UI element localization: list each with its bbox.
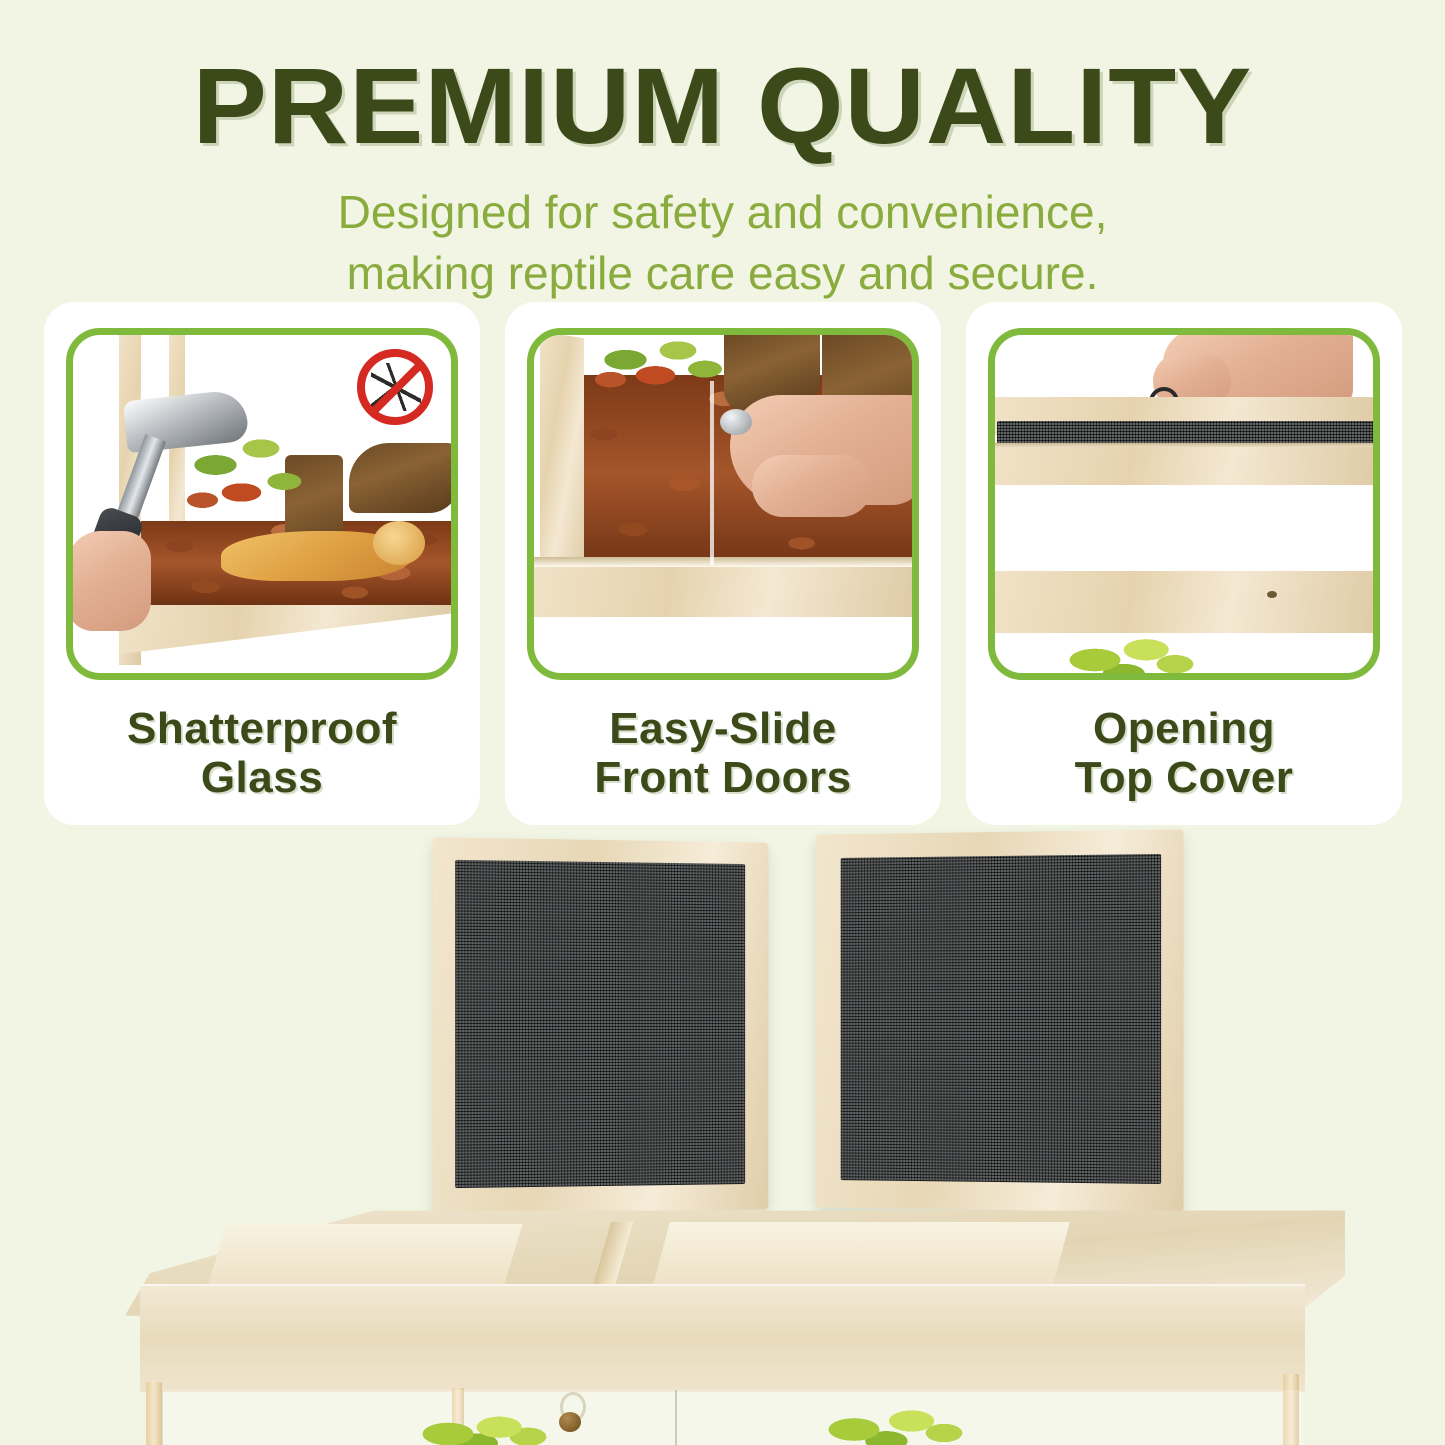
no-crack-icon bbox=[357, 349, 433, 425]
subtitle-line-2: making reptile care easy and secure. bbox=[0, 243, 1445, 304]
feature-card-easy-slide-front-doors[interactable]: Easy-Slide Front Doors bbox=[505, 302, 941, 825]
feature-card-row: Shatterproof Glass bbox=[44, 302, 1402, 825]
plant-right bbox=[800, 1402, 980, 1445]
feature-photo-easy-slide-front-doors bbox=[527, 328, 919, 680]
plant-left bbox=[400, 1412, 560, 1445]
hero-product-illustration: left mesh screen lid right mesh screen l… bbox=[0, 826, 1445, 1445]
page-subtitle: Designed for safety and convenience, mak… bbox=[0, 160, 1445, 303]
front-glass-doors[interactable] bbox=[162, 1390, 1303, 1445]
feature-card-opening-top-cover[interactable]: Opening Top Cover bbox=[966, 302, 1402, 825]
left-mesh-lid[interactable]: left mesh screen lid bbox=[433, 837, 769, 1215]
door-knob[interactable] bbox=[559, 1412, 581, 1432]
feature-photo-opening-top-cover bbox=[988, 328, 1380, 680]
terrarium-leg-left bbox=[146, 1382, 162, 1445]
header-block: PREMIUM QUALITY Designed for safety and … bbox=[0, 0, 1445, 303]
subtitle-line-1: Designed for safety and convenience, bbox=[0, 182, 1445, 243]
right-mesh-lid[interactable]: right mesh screen lid bbox=[816, 829, 1184, 1212]
feature-card-shatterproof-glass[interactable]: Shatterproof Glass bbox=[44, 302, 480, 825]
feature-card-label: Opening Top Cover bbox=[988, 704, 1380, 803]
terrarium-front-rail bbox=[140, 1284, 1305, 1392]
page-title: PREMIUM QUALITY bbox=[0, 0, 1445, 160]
feature-card-label: Shatterproof Glass bbox=[66, 704, 458, 803]
terrarium-body bbox=[100, 1206, 1345, 1445]
product-marketing-image: PREMIUM QUALITY Designed for safety and … bbox=[0, 0, 1445, 1445]
feature-photo-shatterproof-glass bbox=[66, 328, 458, 680]
feature-card-label: Easy-Slide Front Doors bbox=[527, 704, 919, 803]
